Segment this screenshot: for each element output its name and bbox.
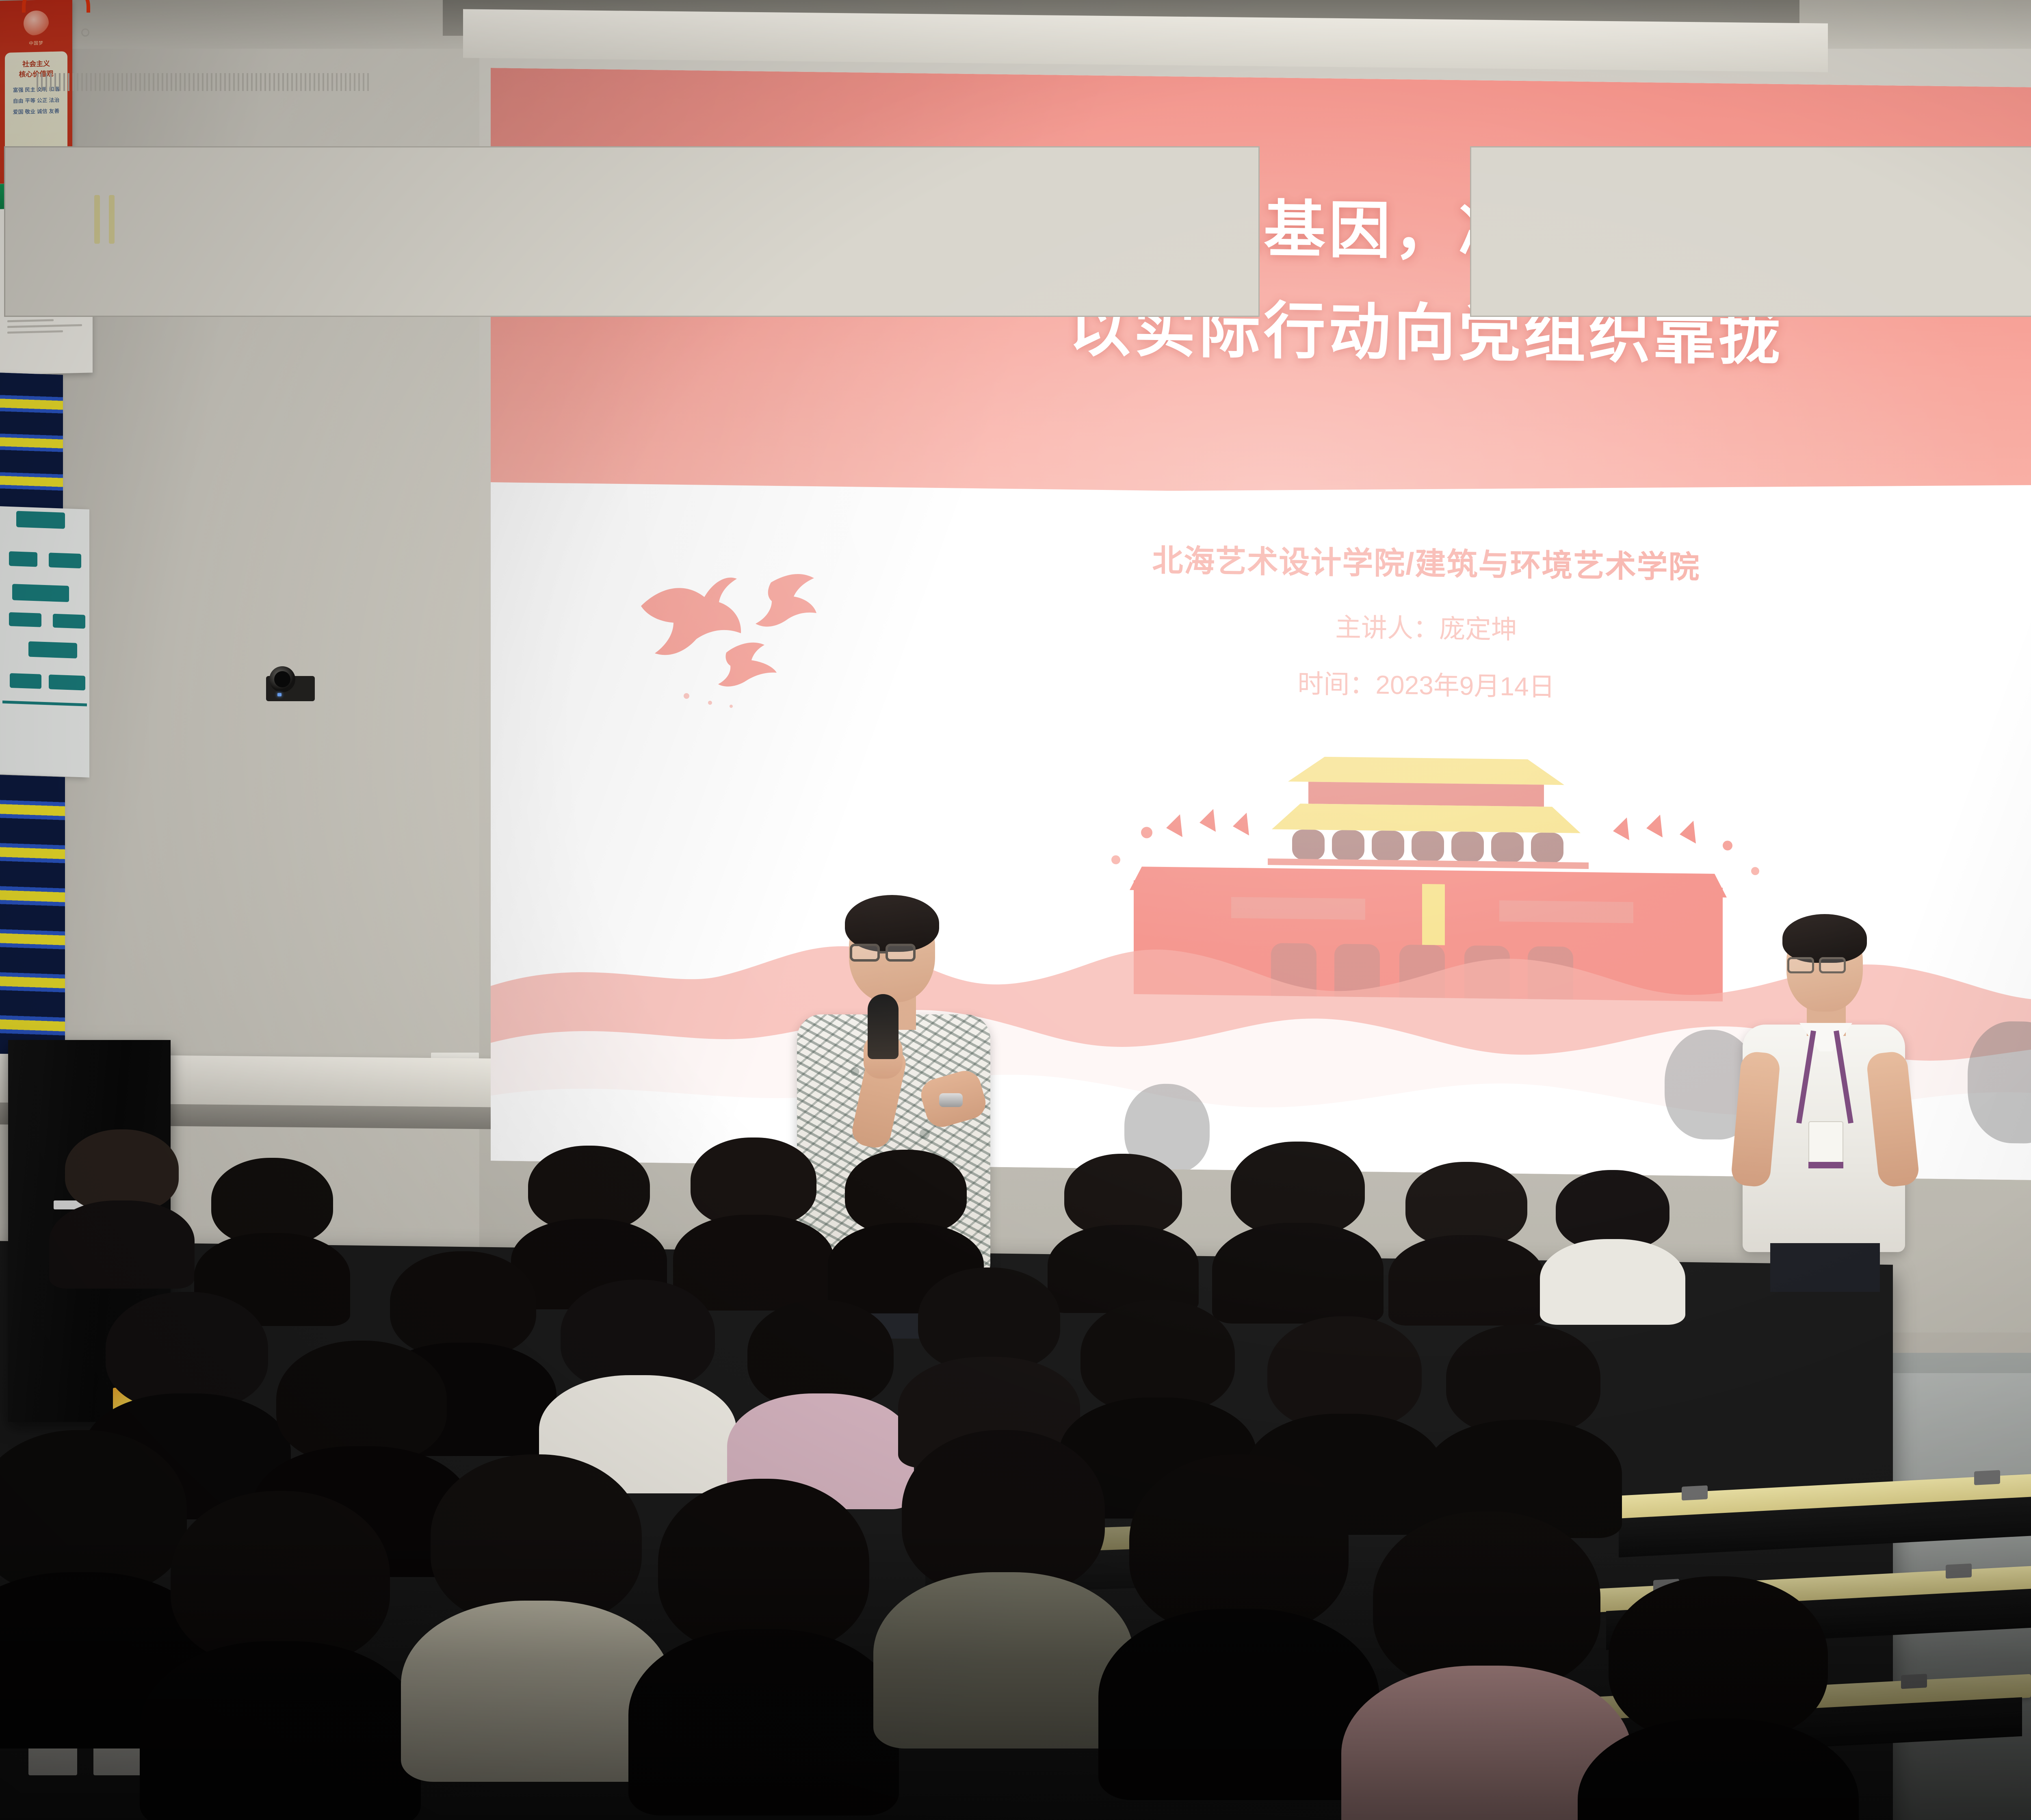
- audience-member: [1231, 1142, 1365, 1304]
- poster-values-row-2: 自由 平等 公正 法治: [5, 95, 67, 106]
- audience-member: [845, 1150, 967, 1296]
- audience-member: [561, 1280, 715, 1471]
- foreground-shadow: [0, 1527, 2031, 1820]
- lecture-hall-photo: 中国梦 社会主义核心价值观 富强 民主 文明 和谐 自由 平等 公正 法治 爱国…: [0, 0, 2031, 1820]
- audience-member: [1405, 1162, 1527, 1308]
- peace-doves-icon: [625, 557, 852, 714]
- poster-values-row-3: 爱国 敬业 诚信 友善: [5, 106, 67, 117]
- audience-member: [1446, 1324, 1600, 1515]
- handheld-microphone[interactable]: [868, 994, 899, 1059]
- wristwatch: [939, 1093, 963, 1107]
- audience-member: [65, 1129, 179, 1272]
- workflow-chart-poster: [0, 506, 89, 778]
- audience-member: [691, 1137, 816, 1292]
- audience-member: [747, 1300, 894, 1487]
- audience-member: [1064, 1154, 1182, 1296]
- audience-member: [528, 1146, 650, 1292]
- audience-member: [918, 1267, 1060, 1446]
- audience-member: [211, 1158, 333, 1308]
- auspicious-cloud-icon: [2029, 587, 2031, 700]
- eyeglasses-right-lens-host: [1819, 957, 1846, 973]
- blue-yellow-stripe-poster-lower: [0, 775, 65, 1062]
- ptz-camera: [266, 666, 315, 701]
- eyeglasses-left-lens: [850, 944, 880, 962]
- dream-emblem-icon: [24, 10, 49, 36]
- eyeglasses-left-lens-host: [1787, 957, 1814, 973]
- audience-member: [1556, 1170, 1669, 1308]
- eyeglasses-right-lens: [886, 944, 916, 962]
- poster-emblem-caption: 中国梦: [0, 39, 72, 47]
- blue-yellow-stripe-poster-upper: [0, 373, 63, 509]
- console-lock-icon[interactable]: [81, 28, 89, 37]
